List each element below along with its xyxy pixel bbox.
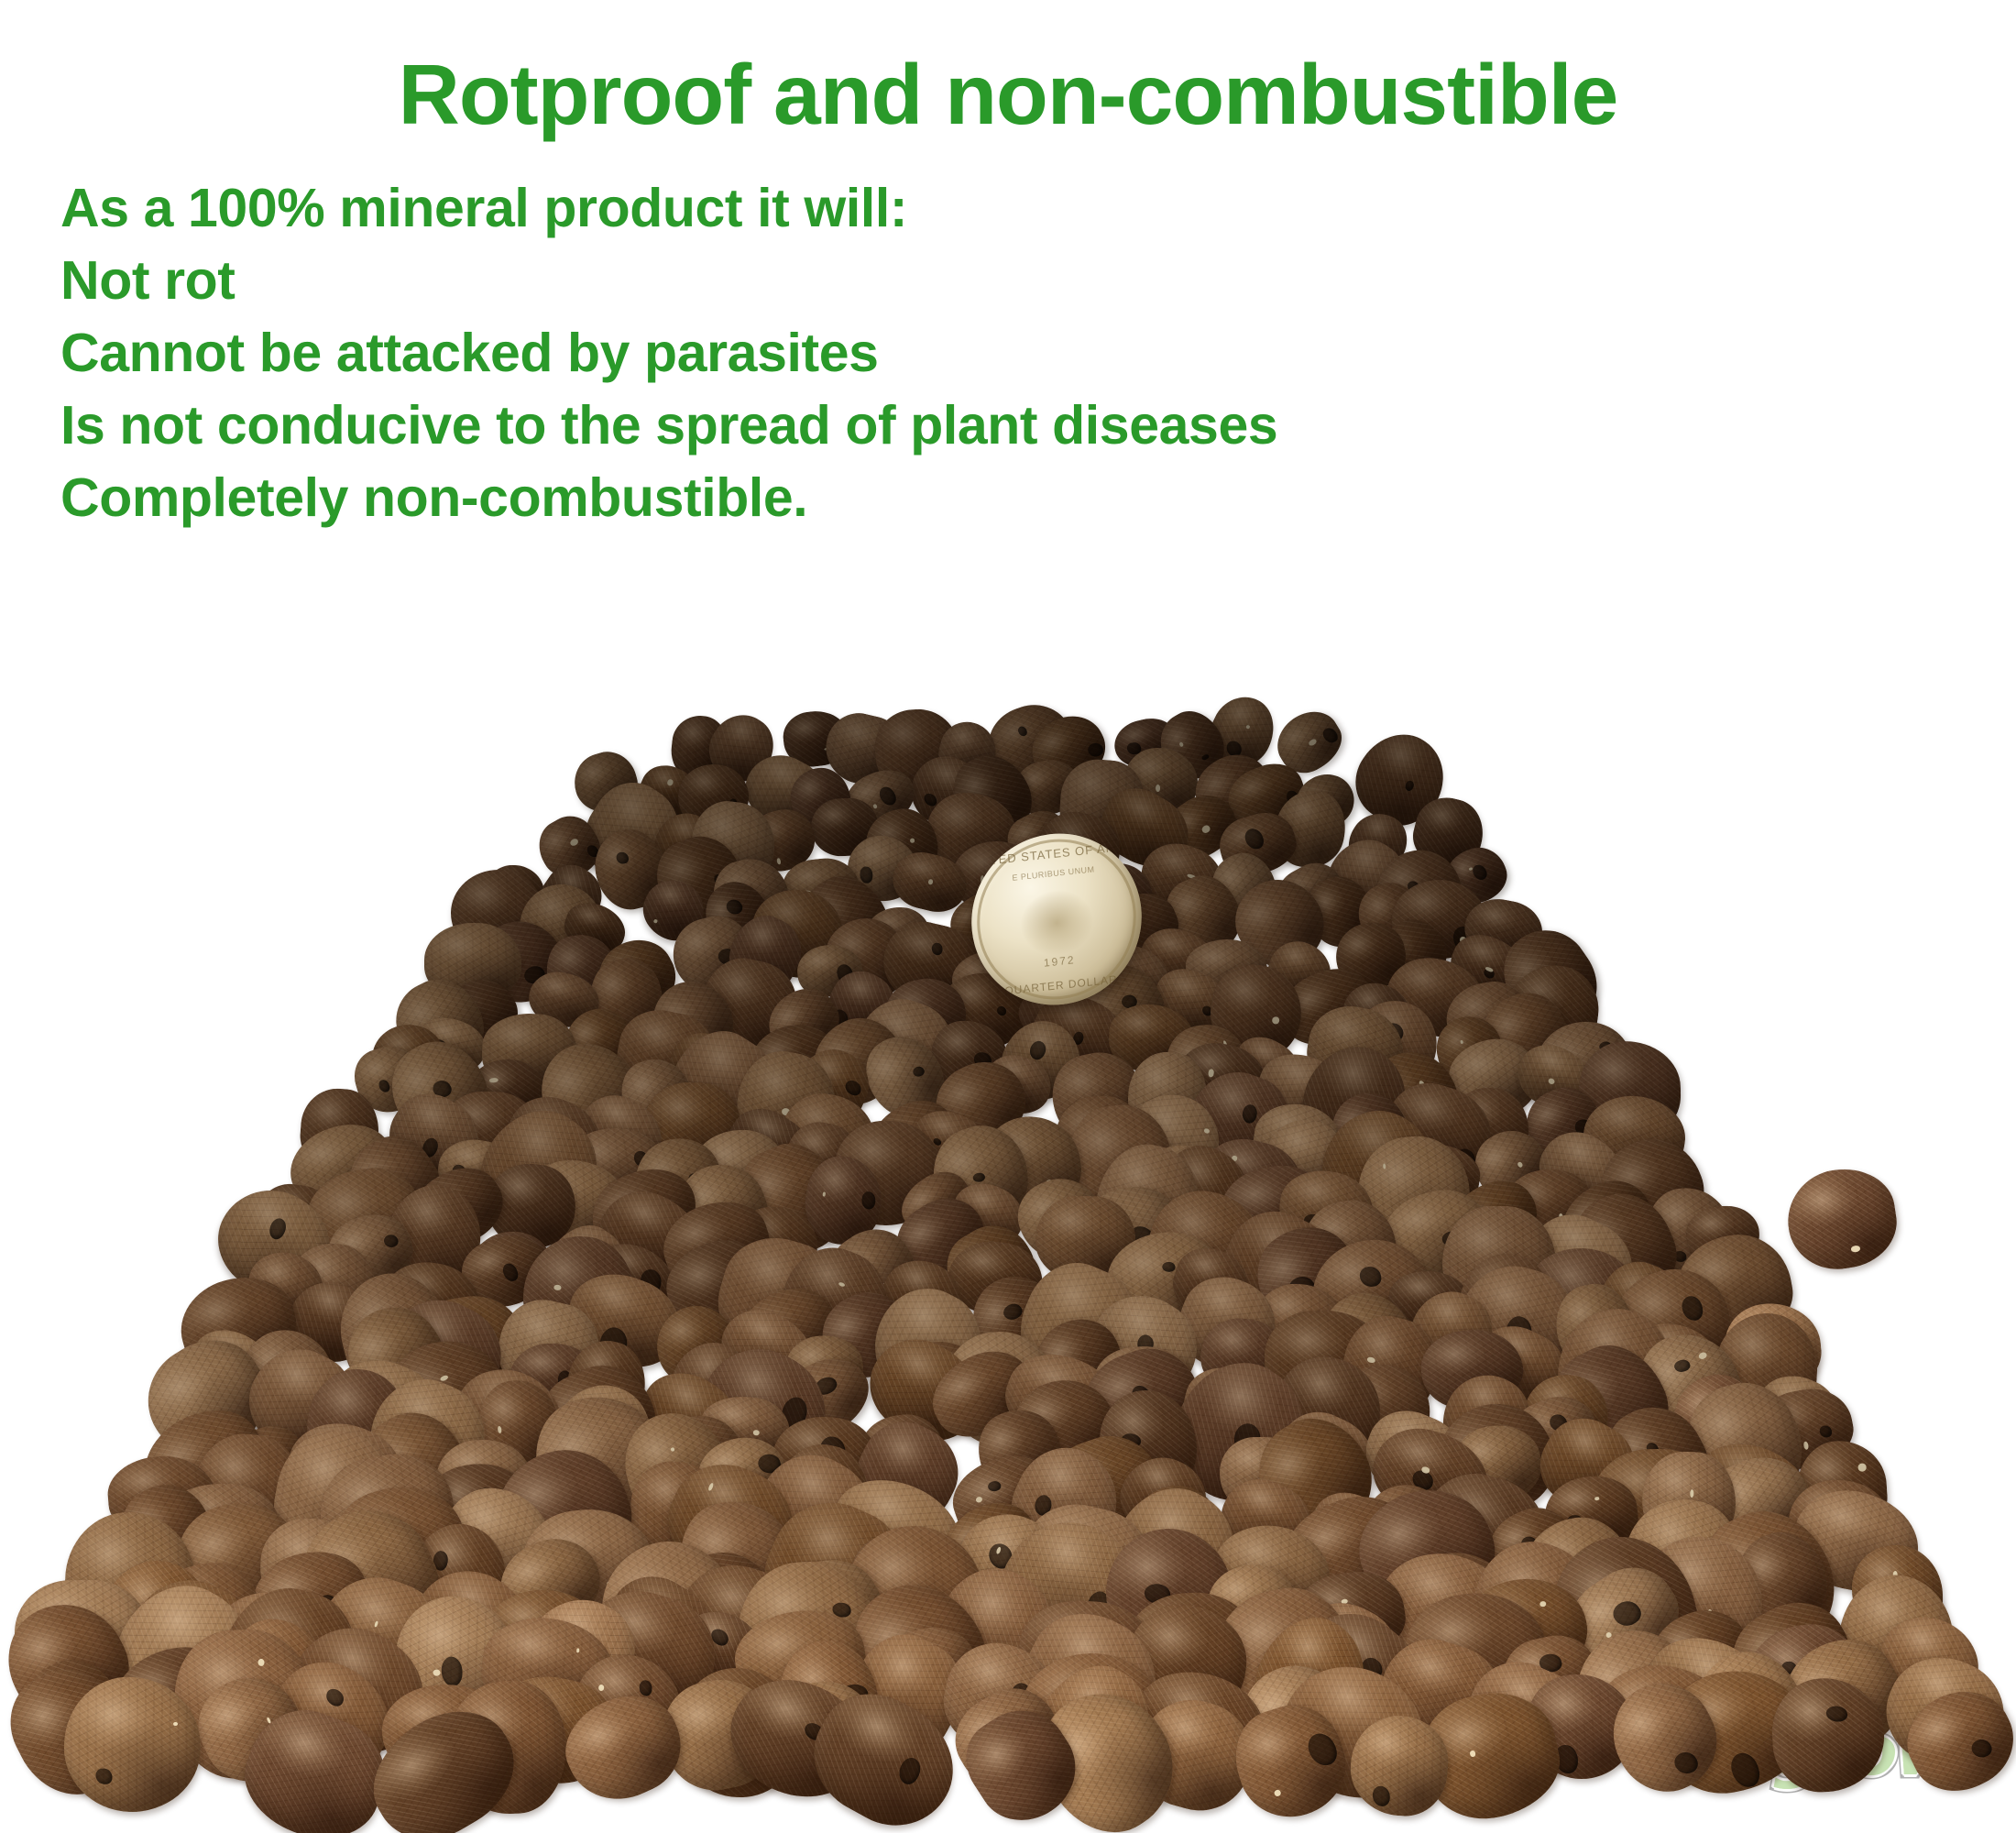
pebble-fleck — [1272, 1017, 1280, 1026]
pebble-pore — [323, 1686, 345, 1708]
product-photo: UNITED STATES OF AMERICA E PLURIBUS UNUM… — [0, 706, 2016, 1787]
pebble-fleck — [373, 1620, 378, 1628]
pebble-fleck — [597, 1685, 604, 1692]
pebble-fleck — [1594, 1498, 1600, 1501]
pebble-fleck — [1273, 1789, 1281, 1796]
pebble-pore — [1201, 753, 1210, 761]
pebble-pore — [1372, 1785, 1391, 1806]
pebble-fleck — [553, 1285, 561, 1290]
pebble-fleck — [1207, 1069, 1213, 1077]
feature-list-item: Cannot be attacked by parasites — [60, 317, 1618, 390]
pebble-pore — [378, 1079, 391, 1093]
pebble-pore — [1680, 1295, 1704, 1323]
pebble-pore — [1403, 779, 1416, 792]
pebble-fleck — [1200, 824, 1211, 834]
pebble-pore — [1819, 1424, 1833, 1439]
feature-list-item: Not rot — [60, 245, 1618, 317]
pebble-fleck — [822, 1192, 826, 1197]
pebble-fleck — [1309, 738, 1319, 747]
pebble-fleck — [1698, 1351, 1708, 1360]
pebble-pore — [1161, 1261, 1176, 1274]
pebble-pore — [382, 1232, 400, 1249]
feature-list-item: As a 100% mineral product it will: — [60, 172, 1618, 245]
pebble-pore — [1016, 725, 1028, 738]
pebble-fleck — [440, 1374, 450, 1382]
pebble-fleck — [652, 919, 657, 925]
pebble-fleck — [1547, 1078, 1555, 1086]
pebble-pore — [440, 1656, 463, 1687]
pebble-pore — [1359, 1265, 1382, 1288]
pebble-fleck — [489, 1078, 499, 1083]
coin-eagle-icon — [1007, 884, 1107, 961]
pebble-fleck — [1517, 1161, 1524, 1169]
pebble-fleck — [671, 1447, 675, 1452]
pebble-fleck — [1802, 1441, 1808, 1450]
pebble-fleck — [1203, 1127, 1210, 1133]
pebble-pore — [1969, 1735, 1995, 1760]
pebble-fleck — [707, 1483, 714, 1492]
page-title: Rotproof and non-combustible — [0, 49, 2016, 140]
pebble-pore — [1472, 863, 1489, 883]
pebble-fleck — [1690, 1490, 1693, 1498]
pebble-fleck — [1179, 741, 1185, 747]
pebble-fleck — [838, 1281, 845, 1287]
pebble-fleck — [1246, 725, 1251, 730]
pebble-fleck — [752, 1430, 760, 1436]
pebble-fleck — [1470, 1751, 1476, 1757]
pebble-pore — [996, 1006, 1005, 1016]
pebble-fleck — [1460, 1040, 1464, 1045]
pebble-pore — [843, 1078, 864, 1097]
pebble-pore — [96, 1768, 113, 1784]
pebble-pore — [1243, 826, 1265, 851]
pebble-fleck — [927, 879, 933, 885]
pebble-pore — [931, 942, 944, 956]
pebble-pore — [1320, 725, 1340, 745]
pebble-fleck — [1156, 785, 1161, 793]
pebble-pore — [912, 1064, 926, 1079]
feature-list-item: Completely non-combustible. — [60, 462, 1618, 534]
pebble-fleck — [433, 1670, 441, 1676]
pebble-fleck — [910, 838, 915, 842]
pebble-fleck — [667, 779, 674, 786]
clay-pebble — [1781, 1162, 1903, 1276]
pebble-pore — [638, 1680, 652, 1697]
feature-list-item: Is not conducive to the spread of plant … — [60, 390, 1618, 462]
us-quarter-coin: UNITED STATES OF AMERICA E PLURIBUS UNUM… — [966, 825, 1147, 1013]
pebble-pore — [1728, 1751, 1762, 1791]
pebble-fleck — [776, 857, 781, 864]
pebble-fleck — [1539, 1600, 1547, 1607]
pebble-pore — [1825, 1707, 1846, 1723]
pebble-pore — [877, 785, 898, 808]
pebble-fleck — [1383, 1163, 1386, 1169]
pebble-fleck — [1367, 1356, 1376, 1364]
pebble-fleck — [497, 1426, 502, 1434]
pebble-pore — [615, 851, 630, 865]
pebble-fleck — [1857, 1464, 1867, 1472]
pebble-fleck — [576, 1648, 580, 1652]
pebble-fleck — [173, 1721, 178, 1726]
pebble-pore — [860, 1191, 876, 1211]
pebble-pore — [1304, 1729, 1340, 1769]
product-marketing-graphic: Rotproof and non-combustible As a 100% m… — [0, 0, 2016, 1833]
pebble-pore — [724, 896, 745, 917]
pebble-fleck — [257, 1658, 265, 1666]
pebble-pore — [986, 1480, 1001, 1493]
pebble-fleck — [569, 838, 579, 848]
pebble-fleck — [1851, 1246, 1861, 1253]
pebble-pore — [1673, 1357, 1692, 1374]
pebble-pore — [1086, 741, 1105, 761]
feature-list: As a 100% mineral product it will: Not r… — [60, 172, 1618, 534]
pebble-pore — [1609, 1596, 1645, 1630]
pebble-pore — [501, 1261, 520, 1283]
pebble-pore — [1671, 1748, 1701, 1777]
pebble-pore — [971, 1171, 986, 1184]
pebble-fleck — [975, 1497, 982, 1504]
pebble-pore — [265, 1216, 290, 1243]
pebble-fleck — [872, 804, 878, 809]
pebble-pore — [894, 1755, 925, 1788]
